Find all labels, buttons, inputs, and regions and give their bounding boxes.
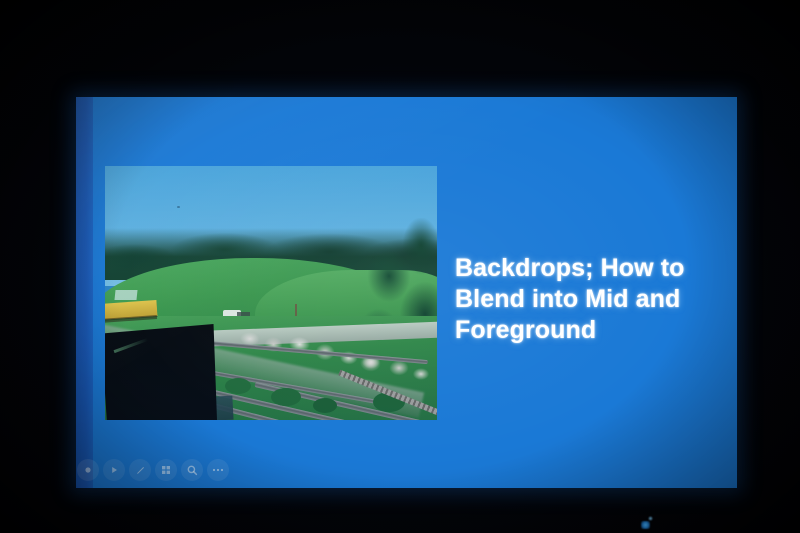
photo-bush-1 <box>271 388 301 406</box>
ellipsis-icon <box>211 467 225 473</box>
all-slides-button[interactable] <box>155 459 177 481</box>
photo-dark-obstruction <box>105 324 217 420</box>
slide-photo-model-railroad <box>105 166 437 420</box>
stray-light-speck-2 <box>648 516 653 521</box>
photo-bush-2 <box>313 398 337 413</box>
stray-light-speck <box>641 521 650 529</box>
zoom-button[interactable] <box>181 459 203 481</box>
slide-accent-bar <box>76 97 93 488</box>
photo-bush-3 <box>225 378 251 394</box>
more-options-button[interactable] <box>207 459 229 481</box>
slide-title: Backdrops; How to Blend into Mid and For… <box>455 253 723 346</box>
pen-icon <box>134 464 147 477</box>
magnifier-icon <box>186 464 199 477</box>
grid-icon <box>160 464 172 476</box>
previous-icon <box>82 464 94 476</box>
next-icon <box>108 464 120 476</box>
pen-button[interactable] <box>129 459 151 481</box>
projected-slide[interactable]: Backdrops; How to Blend into Mid and For… <box>76 97 737 488</box>
previous-slide-button[interactable] <box>77 459 99 481</box>
photo-building-left <box>114 290 137 300</box>
photo-sky-speck <box>177 206 180 208</box>
presenter-toolbar <box>76 457 229 483</box>
projection-room: Backdrops; How to Blend into Mid and For… <box>0 0 800 533</box>
next-slide-button[interactable] <box>103 459 125 481</box>
